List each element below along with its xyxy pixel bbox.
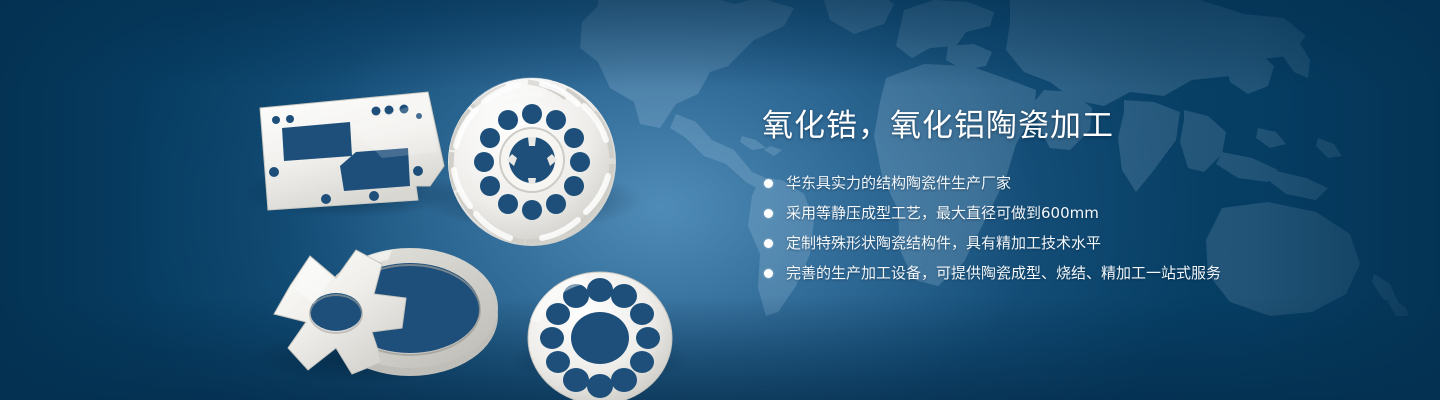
banner-copy: 氧化锆，氧化铝陶瓷加工 华东具实力的结构陶瓷件生产厂家 采用等静压成型工艺，最大… bbox=[762, 104, 1382, 284]
banner-headline: 氧化锆，氧化铝陶瓷加工 bbox=[762, 104, 1382, 148]
feature-text: 完善的生产加工设备，可提供陶瓷成型、烧结、精加工一站式服务 bbox=[786, 262, 1221, 284]
ceramic-impeller bbox=[448, 77, 616, 246]
feature-text: 定制特殊形状陶瓷结构件，具有精加工技术水平 bbox=[786, 232, 1101, 254]
bullet-dot-icon bbox=[764, 239, 773, 248]
bullet-dot-icon bbox=[764, 179, 773, 188]
bullet-dot-icon bbox=[764, 209, 773, 218]
bullet-dot-icon bbox=[764, 269, 773, 278]
feature-item: 完善的生产加工设备，可提供陶瓷成型、烧结、精加工一站式服务 bbox=[764, 262, 1382, 284]
feature-text: 华东具实力的结构陶瓷件生产厂家 bbox=[786, 172, 1011, 194]
ceramic-product-photos bbox=[232, 40, 732, 380]
ceramic-perforated-disc bbox=[528, 272, 672, 400]
feature-text: 采用等静压成型工艺，最大直径可做到600mm bbox=[786, 202, 1099, 224]
feature-item: 华东具实力的结构陶瓷件生产厂家 bbox=[764, 172, 1382, 194]
feature-item: 采用等静压成型工艺，最大直径可做到600mm bbox=[764, 202, 1382, 224]
feature-item: 定制特殊形状陶瓷结构件，具有精加工技术水平 bbox=[764, 232, 1382, 254]
feature-list: 华东具实力的结构陶瓷件生产厂家 采用等静压成型工艺，最大直径可做到600mm 定… bbox=[764, 172, 1382, 284]
ceramic-machined-plate bbox=[260, 92, 444, 210]
hero-banner: 氧化锆，氧化铝陶瓷加工 华东具实力的结构陶瓷件生产厂家 采用等静压成型工艺，最大… bbox=[0, 0, 1440, 400]
